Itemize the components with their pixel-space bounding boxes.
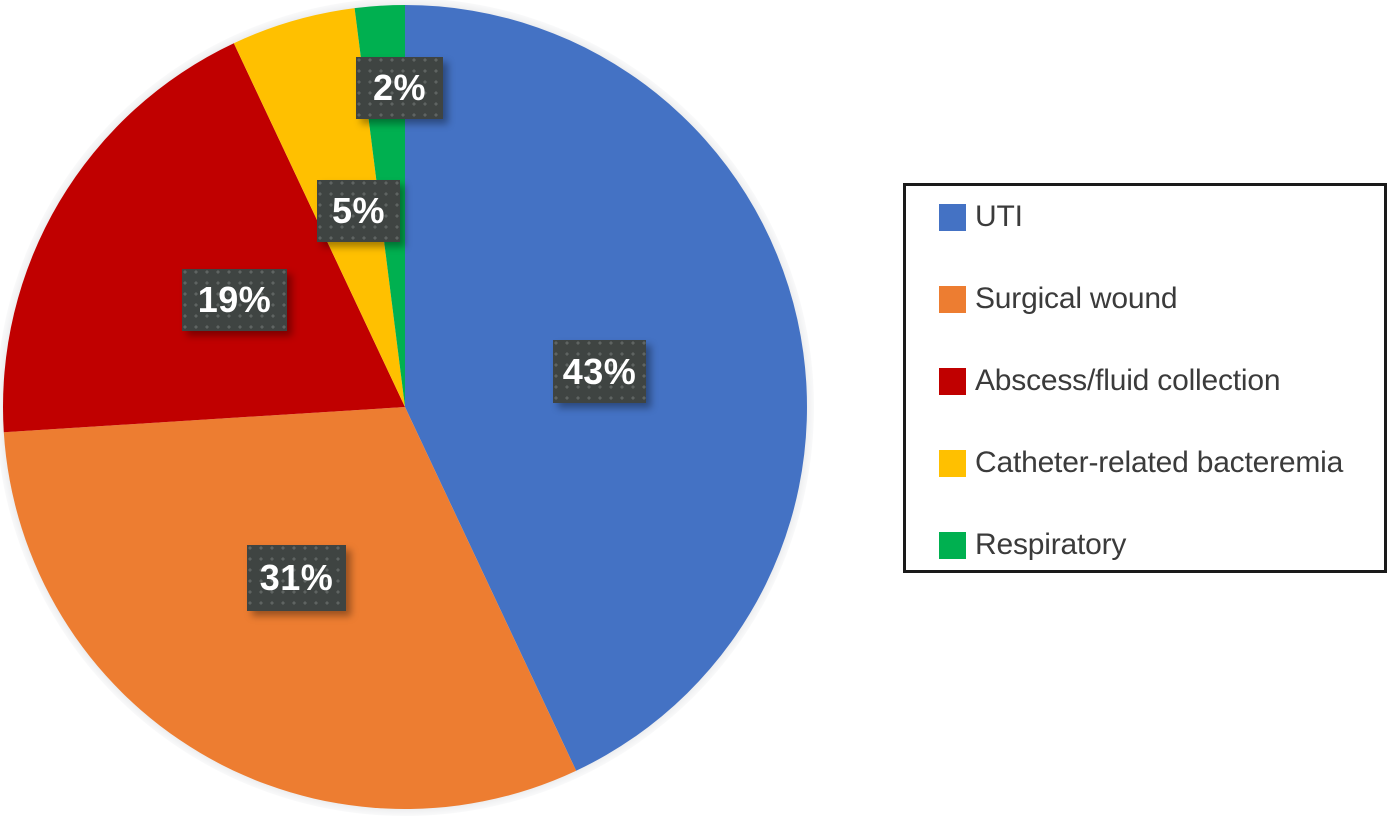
pie-data-label: 2% <box>356 57 443 119</box>
pie-data-label: 31% <box>247 545 346 611</box>
legend-item-label: Respiratory <box>975 530 1126 560</box>
pie-svg <box>0 0 880 818</box>
pie-chart-figure: 43%31%19%5%2% UTISurgical woundAbscess/f… <box>0 0 1394 818</box>
legend-color-swatch-icon <box>939 532 966 559</box>
legend-item[interactable]: Abscess/fluid collection <box>939 364 1280 398</box>
legend: UTISurgical woundAbscess/fluid collectio… <box>903 183 1387 573</box>
pie-slice-group <box>3 5 807 809</box>
legend-item[interactable]: UTI <box>939 200 1023 234</box>
pie-data-label: 5% <box>317 180 400 242</box>
pie-plot-area: 43%31%19%5%2% <box>0 0 880 818</box>
legend-item[interactable]: Surgical wound <box>939 282 1177 316</box>
legend-color-swatch-icon <box>939 204 966 231</box>
legend-item[interactable]: Catheter-related bacteremia <box>939 446 1343 480</box>
legend-color-swatch-icon <box>939 286 966 313</box>
legend-item-label: Abscess/fluid collection <box>975 366 1280 396</box>
legend-item[interactable]: Respiratory <box>939 528 1126 562</box>
pie-data-label: 19% <box>182 269 287 331</box>
legend-color-swatch-icon <box>939 450 966 477</box>
legend-item-label: Surgical wound <box>975 284 1177 314</box>
pie-data-label: 43% <box>553 340 646 403</box>
legend-item-label: Catheter-related bacteremia <box>975 448 1343 478</box>
legend-color-swatch-icon <box>939 368 966 395</box>
legend-item-label: UTI <box>975 202 1023 232</box>
